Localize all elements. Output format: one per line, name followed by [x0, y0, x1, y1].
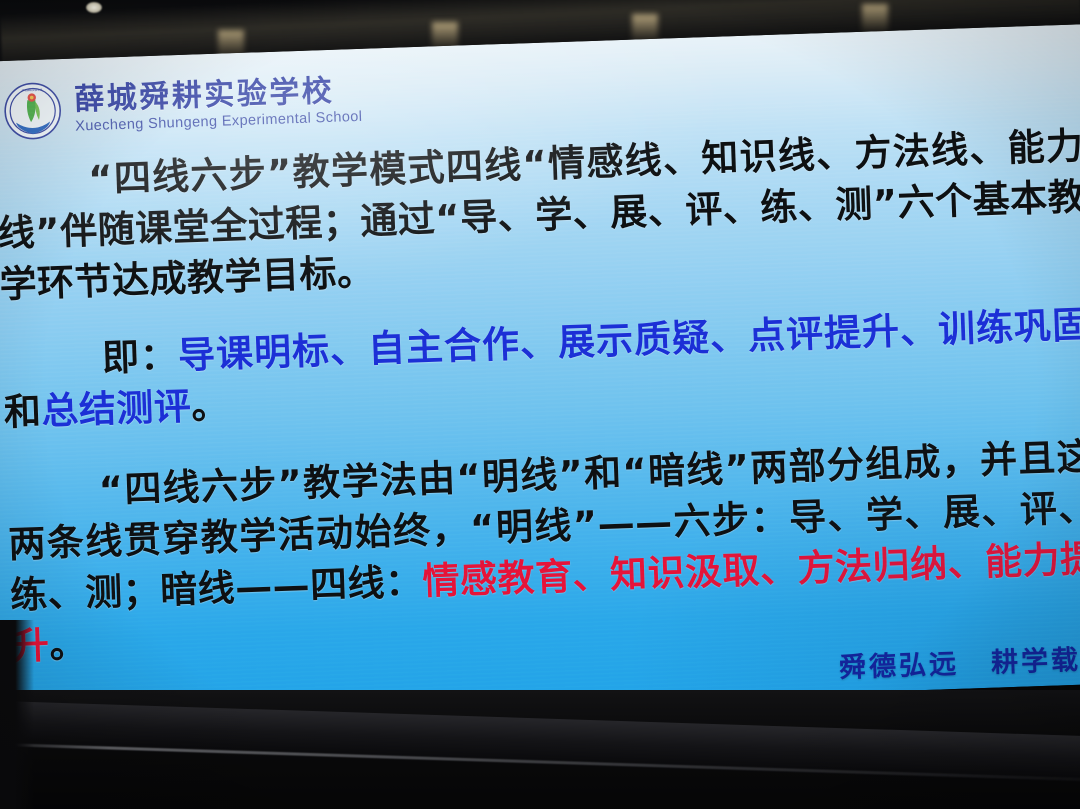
school-name-block: 薛城舜耕实验学校 Xuecheng Shungeng Experimental …: [74, 76, 363, 134]
projection-screen: 薛城舜耕实验学校 薛城舜耕实验学校 Xuecheng Shungeng Expe…: [0, 23, 1080, 721]
paragraph-1-text: “四线六步”教学模式四线“情感线、知识线、方法线、能力线”伴随课堂全过程；通过“…: [0, 124, 1080, 306]
motto-right: 耕学载道: [990, 637, 1080, 680]
ceiling-glint-d: [862, 4, 888, 34]
paragraph-2-end: 。: [191, 384, 230, 428]
paragraph-2-blue-1: 导课明标、自主合作、展示质疑、点评提升、训练巩固: [177, 303, 1080, 377]
slide-header: 薛城舜耕实验学校 薛城舜耕实验学校 Xuecheng Shungeng Expe…: [3, 71, 363, 141]
school-crest-icon: 薛城舜耕实验学校: [3, 81, 63, 141]
slide-footer-motto: 舜德弘远 耕学载道: [838, 637, 1080, 685]
paragraph-2: 即：导课明标、自主合作、展示质疑、点评提升、训练巩固和总结测评。: [1, 299, 1080, 438]
paragraph-2-blue-2: 总结测评: [41, 385, 192, 433]
paragraph-2-mid: 和: [3, 390, 42, 434]
screenshot-root: 薛城舜耕实验学校 薛城舜耕实验学校 Xuecheng Shungeng Expe…: [0, 0, 1080, 809]
slide-canvas: 薛城舜耕实验学校 薛城舜耕实验学校 Xuecheng Shungeng Expe…: [0, 23, 1080, 721]
motto-left: 舜德弘远: [838, 642, 959, 685]
paragraph-2-lead: 即：: [101, 334, 178, 380]
slide-body: “四线六步”教学模式四线“情感线、知识线、方法线、能力线”伴随课堂全过程；通过“…: [0, 120, 1080, 676]
paragraph-1: “四线六步”教学模式四线“情感线、知识线、方法线、能力线”伴随课堂全过程；通过“…: [0, 120, 1080, 310]
paragraph-3: “四线六步”教学法由“明线”和“暗线”两部分组成，并且这两条线贯穿教学活动始终，…: [6, 431, 1080, 672]
paragraph-3-end: 。: [49, 623, 88, 667]
svg-text:薛城舜耕实验学校: 薛城舜耕实验学校: [22, 88, 43, 93]
left-dark-edge: [0, 620, 34, 809]
